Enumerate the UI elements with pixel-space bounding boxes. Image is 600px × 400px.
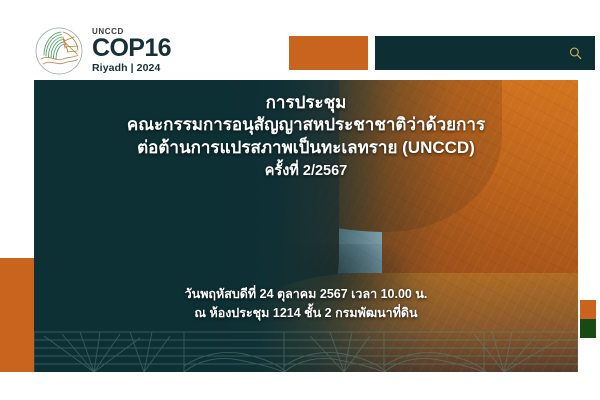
logo-wordmark: UNCCD COP16 Riyadh | 2024 [92,28,171,73]
orange-accent-tab[interactable] [289,36,368,70]
search-icon[interactable] [568,46,583,61]
site-logo[interactable]: UNCCD COP16 Riyadh | 2024 [34,26,171,76]
swatch-orange [580,300,596,319]
page-root: UNCCD COP16 Riyadh | 2024 [0,0,600,400]
decorative-line-pattern [34,326,578,372]
swatch-green [580,319,596,338]
unccd-cop16-emblem-icon [34,26,84,76]
logo-location-text: Riyadh | 2024 [92,63,171,74]
left-orange-block [0,258,34,372]
logo-event-text: COP16 [92,37,171,61]
site-header: UNCCD COP16 Riyadh | 2024 [0,0,600,80]
search-input[interactable] [375,36,595,70]
right-color-swatches [580,300,596,338]
hero-banner: การประชุม คณะกรรมการอนุสัญญาสหประชาชาติว… [34,80,578,372]
